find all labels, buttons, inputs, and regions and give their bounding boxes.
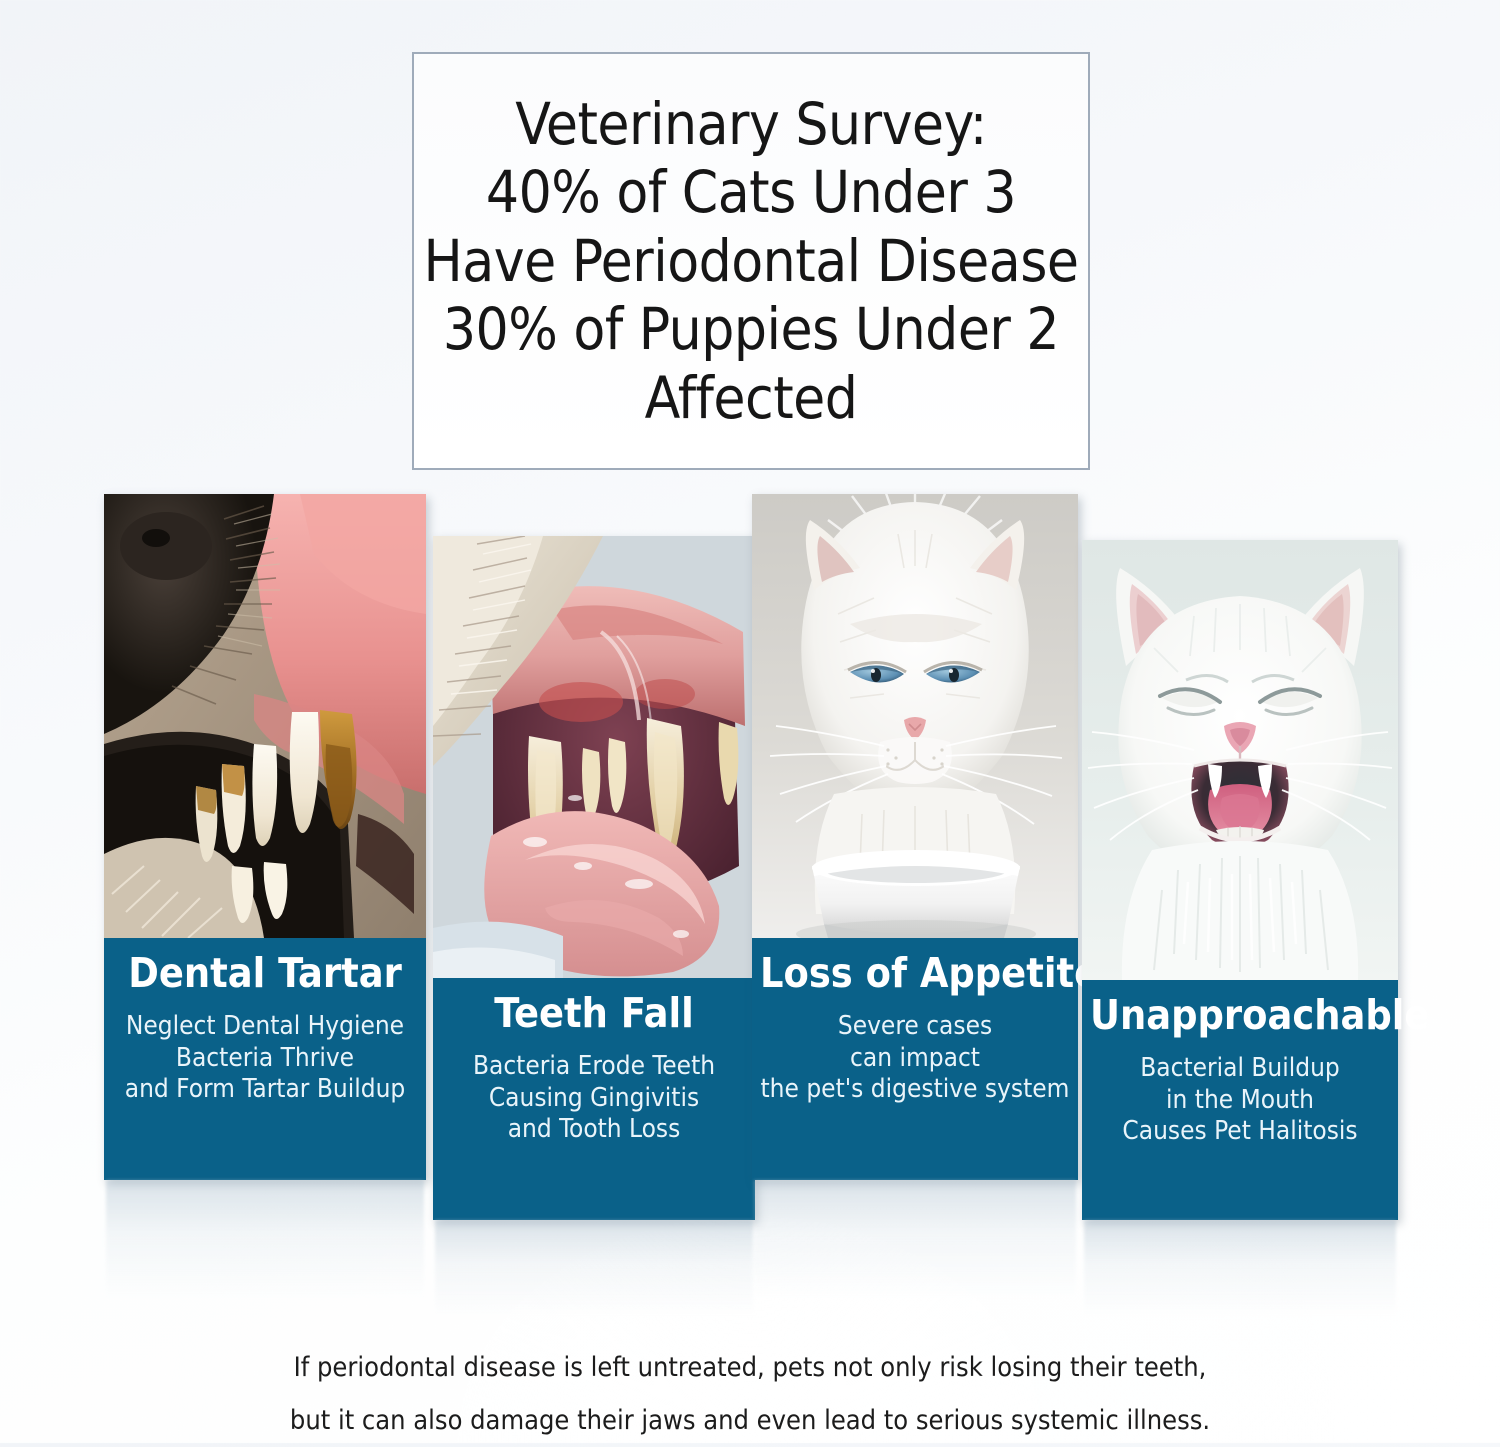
dog-teeth-with-tartar-photo: [104, 494, 426, 938]
card-subline-2: Bacteria Thrive: [112, 1043, 418, 1075]
white-cat-hissing-photo: [1082, 540, 1398, 980]
card-subline-2: can impact: [760, 1043, 1070, 1075]
header-line-5: Affected: [414, 364, 1088, 432]
card-subline-3: Causes Pet Halitosis: [1090, 1116, 1390, 1148]
card-reflection-3: [754, 1180, 1076, 1298]
card-subline-1: Neglect Dental Hygiene: [112, 1011, 418, 1043]
card-subline-3: and Form Tartar Buildup: [112, 1074, 418, 1106]
card-subtext: Severe cases can impact the pet's digest…: [760, 1011, 1070, 1106]
card-subline-1: Bacterial Buildup: [1090, 1053, 1390, 1085]
card-subline-2: in the Mouth: [1090, 1085, 1390, 1117]
card-unapproachable[interactable]: Unapproachable Bacterial Buildup in the …: [1082, 540, 1398, 1220]
card-band-teeth-fall: Teeth Fall Bacteria Erode Teeth Causing …: [433, 978, 755, 1220]
card-teeth-fall[interactable]: Teeth Fall Bacteria Erode Teeth Causing …: [433, 536, 755, 1220]
card-dental-tartar[interactable]: Dental Tartar Neglect Dental Hygiene Bac…: [104, 494, 426, 1180]
header-line-1: Veterinary Survey:: [414, 90, 1088, 158]
card-reflection-2: [435, 1220, 753, 1316]
card-subline-1: Severe cases: [760, 1011, 1070, 1043]
card-subline-3: and Tooth Loss: [441, 1114, 747, 1146]
card-title: Unapproachable: [1090, 994, 1390, 1037]
card-band-dental-tartar: Dental Tartar Neglect Dental Hygiene Bac…: [104, 938, 426, 1180]
header-line-4: 30% of Puppies Under 2: [414, 295, 1088, 363]
card-subline-3: the pet's digestive system: [760, 1074, 1070, 1106]
infographic-canvas: Veterinary Survey: 40% of Cats Under 3 H…: [0, 0, 1500, 1443]
card-band-unapproachable: Unapproachable Bacterial Buildup in the …: [1082, 980, 1398, 1220]
header-line-2: 40% of Cats Under 3: [414, 158, 1088, 226]
card-subtext: Bacteria Erode Teeth Causing Gingivitis …: [441, 1051, 747, 1146]
cat-open-mouth-gingivitis-photo: [433, 536, 755, 978]
card-title: Teeth Fall: [441, 992, 747, 1035]
card-subline-1: Bacteria Erode Teeth: [441, 1051, 747, 1083]
footer-line-1: If periodontal disease is left untreated…: [0, 1342, 1500, 1395]
card-loss-of-appetite[interactable]: Loss of Appetite Severe cases can impact…: [752, 494, 1078, 1180]
header-headline: Veterinary Survey: 40% of Cats Under 3 H…: [414, 90, 1088, 432]
header-stat-box: Veterinary Survey: 40% of Cats Under 3 H…: [412, 52, 1090, 470]
card-title: Loss of Appetite: [760, 952, 1070, 995]
footer-line-2: but it can also damage their jaws and ev…: [0, 1395, 1500, 1447]
header-line-3: Have Periodontal Disease: [414, 227, 1088, 295]
card-reflection-4: [1084, 1220, 1396, 1316]
white-cat-refusing-food-bowl-photo: [752, 494, 1078, 938]
footer-note: If periodontal disease is left untreated…: [0, 1342, 1500, 1447]
card-title: Dental Tartar: [112, 952, 418, 995]
card-subtext: Neglect Dental Hygiene Bacteria Thrive a…: [112, 1011, 418, 1106]
card-subline-2: Causing Gingivitis: [441, 1083, 747, 1115]
card-subtext: Bacterial Buildup in the Mouth Causes Pe…: [1090, 1053, 1390, 1148]
card-reflection-1: [106, 1180, 424, 1298]
card-band-loss-of-appetite: Loss of Appetite Severe cases can impact…: [752, 938, 1078, 1180]
